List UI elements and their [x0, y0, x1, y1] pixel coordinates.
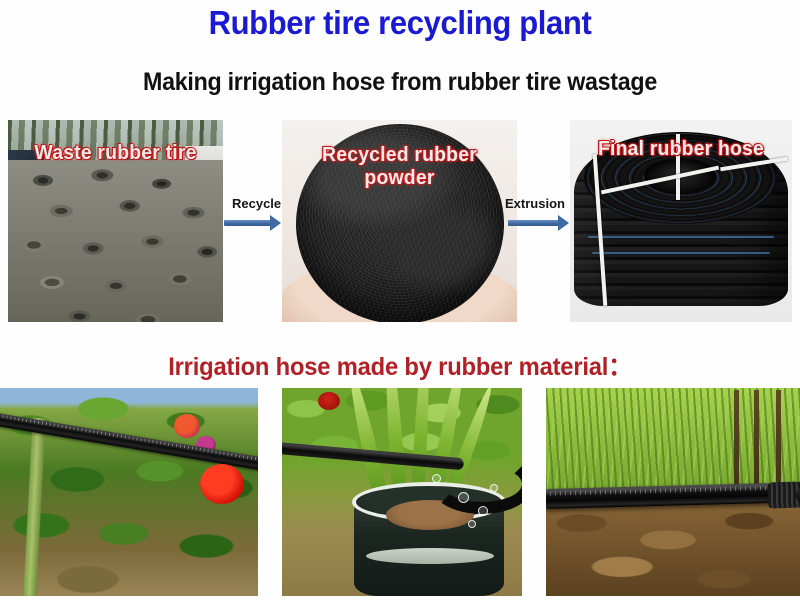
arrow-label-recycle: Recycle: [232, 196, 281, 211]
hose-blue-stripe: [592, 252, 770, 254]
extrusion-arrow: [508, 213, 570, 229]
process-caption-recycled-rubber-powder: Recycled rubber powder: [286, 144, 514, 190]
plant-stem: [754, 390, 759, 494]
tire-pile: [8, 160, 223, 322]
process-caption-final-rubber-hose: Final rubber hose: [573, 138, 788, 161]
red-flower: [200, 464, 244, 504]
gallery-image-hose-over-flowers: [0, 388, 258, 596]
page-subtitle: Making irrigation hose from rubber tire …: [28, 68, 772, 97]
gallery-image-potted-plant-watering: [282, 388, 522, 596]
process-caption-waste-rubber-tire: Waste rubber tire: [11, 142, 220, 165]
hose-blue-stripe: [588, 236, 774, 238]
water-droplet: [468, 520, 476, 528]
arrow-label-extrusion: Extrusion: [505, 196, 565, 211]
water-droplet: [490, 484, 498, 492]
hose-end: [796, 488, 800, 502]
plant-pot-highlight: [366, 548, 494, 564]
flower-bud: [174, 414, 200, 438]
water-droplet: [458, 492, 469, 503]
arrow-head-icon: [558, 215, 569, 231]
arrow-shaft: [508, 220, 560, 226]
water-droplet: [432, 474, 441, 483]
process-image-recycled-rubber-powder: Recycled rubber powder: [282, 120, 517, 322]
red-flower: [318, 392, 340, 410]
recycle-arrow: [224, 213, 282, 229]
page-title: Rubber tire recycling plant: [24, 4, 776, 42]
arrow-shaft: [224, 220, 272, 226]
arrow-head-icon: [270, 215, 281, 231]
process-image-waste-rubber-tire: Waste rubber tire: [8, 120, 223, 322]
water-droplet: [478, 506, 488, 516]
gallery-image-hose-on-soil: [546, 388, 800, 596]
gallery-section-title: Irrigation hose made by rubber material：: [20, 347, 780, 383]
process-image-final-rubber-hose: Final rubber hose: [570, 120, 792, 322]
